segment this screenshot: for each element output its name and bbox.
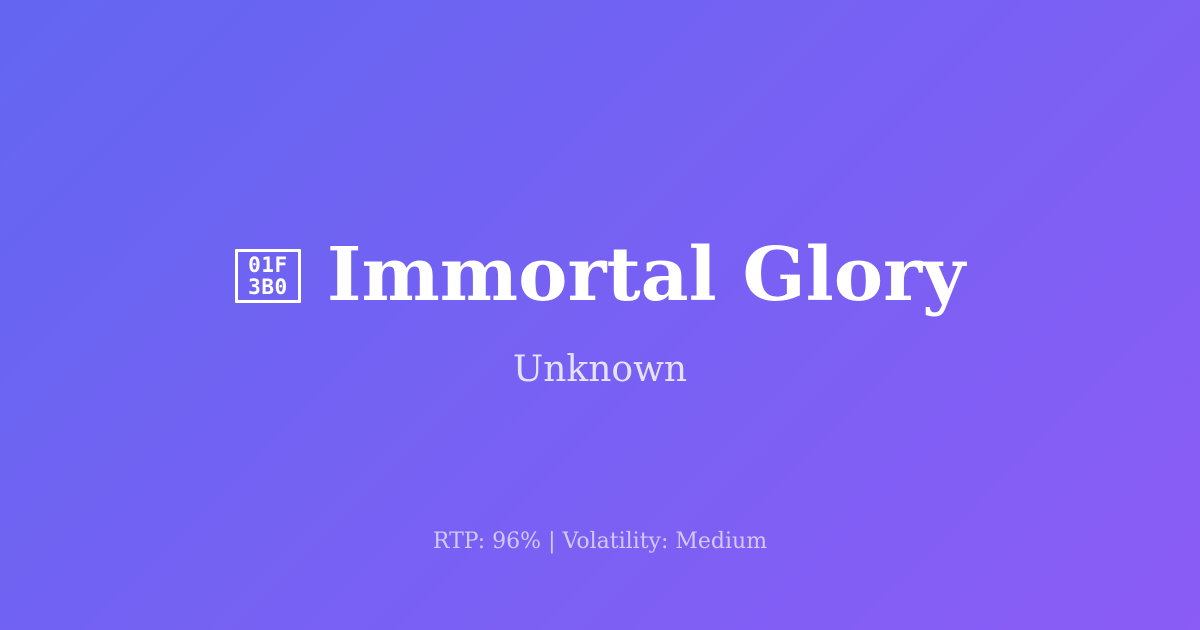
open-graph-card: 01F 3B0 Immortal Glory Unknown RTP: 96% … — [0, 0, 1200, 630]
footer: RTP: 96% | Volatility: Medium — [0, 527, 1200, 557]
emoji-codepoint-row-2: 3B0 — [248, 276, 287, 298]
hero-block: 01F 3B0 Immortal Glory Unknown — [0, 236, 1200, 392]
emoji-codepoint-row-1: 01F — [248, 254, 287, 276]
game-meta-line: RTP: 96% | Volatility: Medium — [433, 527, 767, 557]
page-title: Immortal Glory — [327, 236, 965, 314]
page-subtitle: Unknown — [513, 348, 687, 392]
slot-machine-emoji-icon: 01F 3B0 — [235, 249, 301, 303]
title-row: 01F 3B0 Immortal Glory — [235, 236, 965, 314]
